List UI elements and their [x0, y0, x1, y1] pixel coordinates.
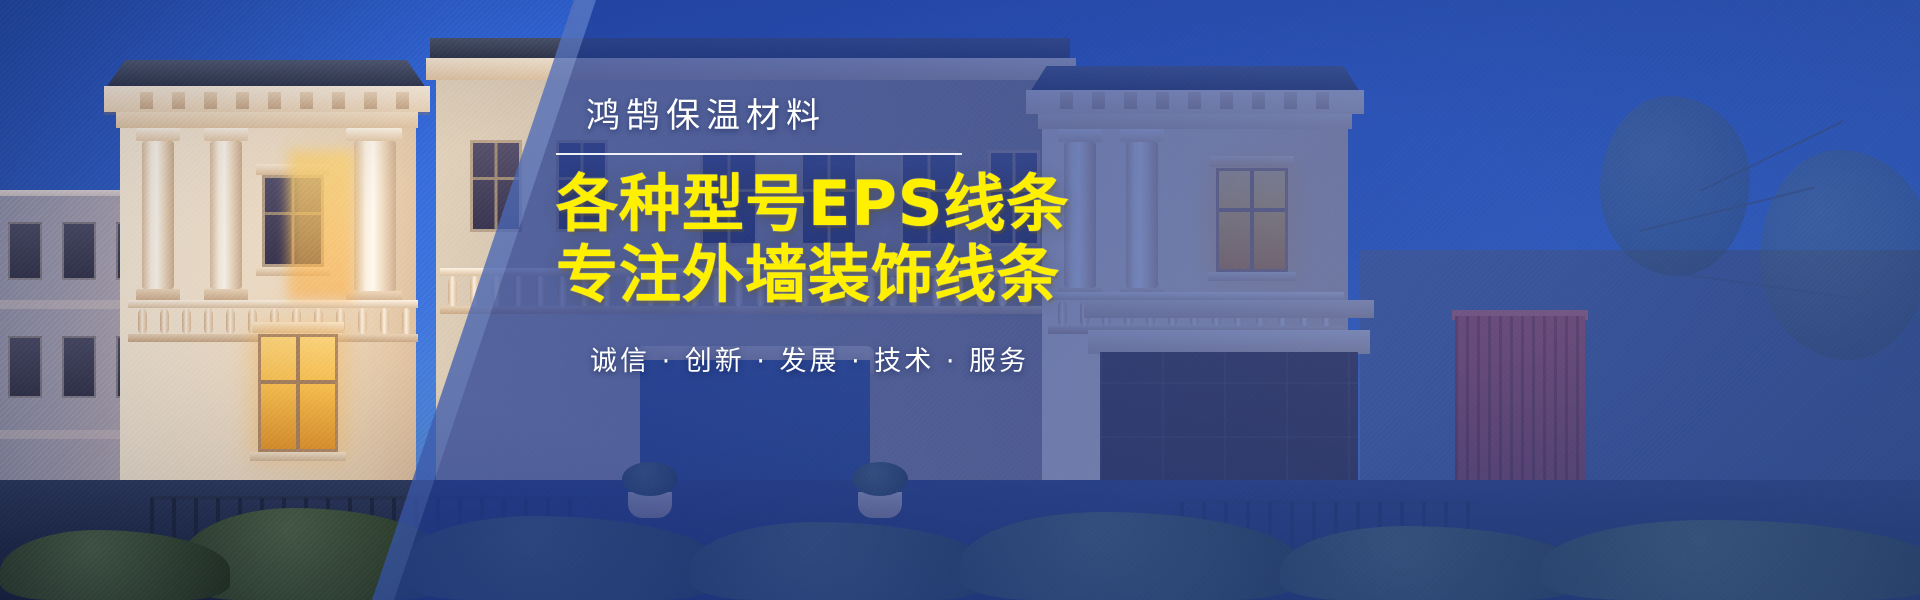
dentil [140, 92, 153, 109]
brand-name: 鸿鹄保温材料 [556, 96, 1316, 137]
headline-line-2: 专注外墙装饰线条 [556, 242, 1316, 309]
left-pavilion-cornice2 [116, 112, 418, 128]
column [354, 141, 396, 291]
red-container [1455, 316, 1585, 506]
column [210, 141, 242, 289]
window-sill [250, 452, 346, 461]
right-pavilion-roof [1030, 66, 1360, 92]
headline-line-1: 各种型号EPS线条 [556, 171, 1316, 238]
left-wing-window [62, 336, 96, 398]
dentil [268, 92, 281, 109]
dentil [236, 92, 249, 109]
banner-copy: 鸿鹄保温材料 各种型号EPS线条 专注外墙装饰线条 诚信 · 创新 · 发展 ·… [556, 96, 1316, 378]
dentil [396, 92, 409, 109]
left-wing-window [8, 336, 42, 398]
tagline: 诚信 · 创新 · 发展 · 技术 · 服务 [556, 339, 1316, 378]
left-wing-window [8, 222, 42, 280]
hedge [1540, 520, 1920, 600]
column [142, 141, 174, 289]
window-head [252, 322, 344, 333]
portico-glow [288, 150, 354, 300]
planter-bush [852, 462, 908, 496]
dentil [172, 92, 185, 109]
tree [1600, 96, 1750, 276]
planter-bush [622, 462, 678, 496]
dentil [332, 92, 345, 109]
dentil [300, 92, 313, 109]
dentil [1316, 92, 1329, 109]
promo-banner: 鸿鹄保温材料 各种型号EPS线条 专注外墙装饰线条 诚信 · 创新 · 发展 ·… [0, 0, 1920, 600]
dentil [364, 92, 377, 109]
left-wing-window [62, 222, 96, 280]
divider-line [556, 153, 962, 155]
tree [1760, 150, 1920, 360]
lit-window [258, 334, 338, 452]
center-cornice [426, 58, 1076, 80]
column-capital [346, 128, 402, 141]
column-capital [136, 128, 180, 141]
center-window [470, 140, 522, 232]
column-capital [204, 128, 248, 141]
dentil [204, 92, 217, 109]
center-roof [430, 38, 1070, 60]
left-pavilion-roof [106, 60, 426, 88]
